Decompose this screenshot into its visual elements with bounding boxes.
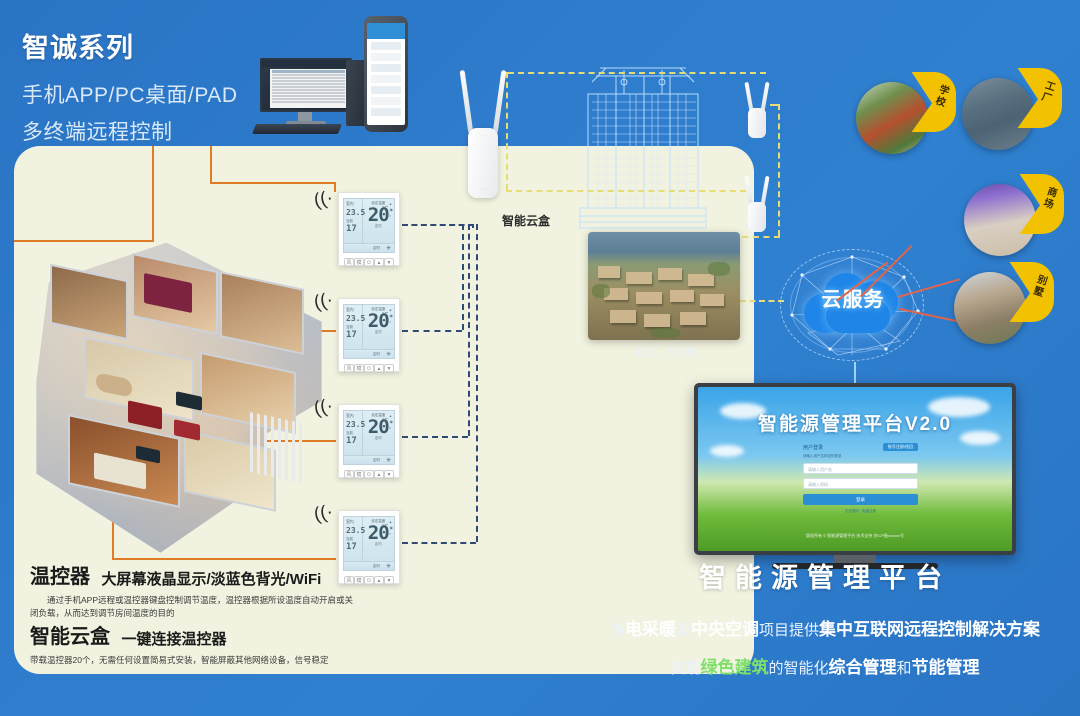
tagline-1-c: 及 [676,622,691,639]
fan-icon: ✳ [386,351,391,358]
tv-screen: 智能源管理平台V2.0 用户登录 账号注册/找回 请输入用户名和密码登录 请输入… [698,387,1012,551]
lcd-mode-text: 定时 [373,564,380,569]
router-body [748,108,766,138]
dash-link-t3 [402,436,468,438]
tagline-1-b: 电采暖 [625,620,676,639]
smartphone-icon [364,16,408,132]
key-up[interactable]: ▲ [374,364,384,373]
desktop-monitor-icon [260,58,352,112]
key-down[interactable]: ▼ [384,364,394,373]
orange-link-v2 [210,146,212,184]
building-wireframe [578,58,708,230]
thermostat-caption-body: 通过手机APP远程或温控器键盘控制调节温度，温控器根据所设温度自动开启或关闭负载… [30,594,360,620]
username-input[interactable]: 请输入用户名 [803,463,918,474]
thermostat-keypad[interactable]: 风 模 ⏻ ▲ ▼ [343,364,395,373]
key-up[interactable]: ▲ [374,470,384,479]
cloudbox-caption-title: 智能云盒 [30,620,110,649]
lcd-left-column: 室内 23.5 当前 17 [344,305,363,349]
key-up[interactable]: ▲ [374,258,384,267]
lcd-left-column: 室内 23.5 当前 17 [344,411,363,455]
thermostat-lcd: 室内 23.5 当前 17 设定温度 20 °C 定时 ▴◉▪ [343,410,395,456]
thermostat-caption-block: 温控器 大屏幕液晶显示/淡蓝色背光/WiFi 通过手机APP远程或温控器键盘控制… [30,560,360,620]
cloud-box-body: · · · ▫ ▫ ▫ [468,128,498,198]
thermostat-caption-sub: 大屏幕液晶显示/淡蓝色背光/WiFi [101,568,321,589]
key-down[interactable]: ▼ [384,470,394,479]
lcd-indoor-temp: 23.5 [346,314,360,323]
wifi-icon: ((· [312,188,335,211]
platform-footer: 版权所有 © 智能源管理平台 技术支持 京ICP备xxxxxx号 [698,533,1012,539]
monitor-data-table [270,69,347,108]
key-mode[interactable]: 模 [354,364,364,373]
cloud-service-node: 云服务 [768,245,936,365]
wifi-icon: ((· [312,502,335,525]
lcd-mode-text: 定时 [373,246,380,251]
thermostat-keypad[interactable]: 风 模 ⏻ ▲ ▼ [343,470,395,479]
thermostat-lcd: 室内 23.5 当前 17 设定温度 20 °C 定时 ▴◉▪ [343,304,395,350]
apartment-floorplan [24,236,334,566]
login-form[interactable]: 用户登录 账号注册/找回 请输入用户名和密码登录 请输入用户名 请输入密码 登录… [803,443,918,514]
yellow-link-1v [506,72,508,190]
lcd-mode-text: 定时 [373,458,380,463]
thermostat-keypad[interactable]: 风 模 ⏻ ▲ ▼ [343,258,395,267]
platform-tagline-block: 智能源管理平台 为电采暖及中央空调项目提供集中互联网远程控制解决方案 实现绿色建… [570,556,1080,678]
thermostat-device[interactable]: 室内 23.5 当前 17 设定温度 20 °C 定时 ▴◉▪ 定时 ✳ 风 [338,404,400,478]
platform-tagline-2: 实现绿色建筑的智能化综合管理和节能管理 [570,653,1080,678]
lcd-unit: °C [382,418,388,424]
key-down[interactable]: ▼ [384,576,394,585]
cloud-to-tv-connector [854,362,856,384]
cloud-box-leds: ▫ ▫ ▫ [468,186,498,191]
lcd-current-value: 17 [346,224,360,234]
cloud-box-label: 智能云盒 [502,212,550,229]
tagline-1-a: 为 [610,622,625,639]
login-title: 用户登录 [803,444,823,451]
wifi-icon: ((· [312,396,335,419]
wifi-icon: ((· [312,290,335,313]
router-body [748,202,766,232]
thermostat-lcd-footer: 定时 ✳ [343,244,395,253]
lcd-indoor-label: 室内 [346,413,360,419]
lcd-indoor-label: 室内 [346,201,360,207]
fan-icon: ✳ [386,563,391,570]
wifi-router-bottom[interactable] [744,176,770,232]
key-power[interactable]: ⏻ [364,576,374,585]
key-mode[interactable]: 模 [354,470,364,479]
dash-link-t3v [468,224,470,436]
scene-mall: 商场 [964,184,1042,262]
dash-link-t2 [402,330,462,332]
lcd-status-icons: ▴◉▪ [390,201,394,219]
community-aerial-photo [588,232,740,340]
key-up[interactable]: ▲ [374,576,384,585]
dash-link-t4 [402,542,476,544]
terminal-devices-group [246,4,432,144]
thermostat-lcd-footer: 定时 ✳ [343,456,395,465]
lcd-indoor-label: 室内 [346,519,360,525]
lcd-current-value: 17 [346,542,360,552]
login-button[interactable]: 登录 [803,494,918,505]
password-input[interactable]: 请输入密码 [803,478,918,489]
orange-link-v2b [334,182,336,192]
platform-title: 智能源管理平台V2.0 [698,409,1012,436]
key-fan[interactable]: 风 [344,364,354,373]
cloudbox-caption-block: 智能云盒 一键连接温控器 带载温控器20个，无需任何设置简易式安装，智能屏蔽其他… [30,620,430,667]
orange-link-h2 [210,182,336,184]
phone-app-screen [367,23,405,125]
login-hint: 请输入用户名和密码登录 [803,454,918,459]
monitor-titlebar [262,60,350,67]
lcd-status-icons: ▴◉▪ [390,519,394,537]
key-power[interactable]: ⏻ [364,364,374,373]
poster-stage: 智诚系列 手机APP/PC桌面/PAD 多终端远程控制 [0,0,1080,716]
thermostat-caption-title: 温控器 [30,560,90,589]
tagline-2-d: 综合管理 [829,658,897,677]
lcd-status-icons: ▴◉▪ [390,413,394,431]
lcd-status-icons: ▴◉▪ [390,307,394,325]
cloudbox-caption-body: 带载温控器20个，无需任何设置简易式安装，智能屏蔽其他网络设备，信号稳定 [30,654,430,667]
scene-villa: 别墅 [954,272,1032,350]
community-photo-label: 社区、办公楼 [616,344,716,359]
antenna-left [460,70,474,134]
tagline-2-a: 实现 [670,660,700,677]
lcd-unit: °C [382,312,388,318]
antenna-right [493,70,507,134]
key-power[interactable]: ⏻ [364,258,374,267]
smart-cloud-box-device[interactable]: · · · ▫ ▫ ▫ [463,70,503,210]
thermostat-device[interactable]: 室内 23.5 当前 17 设定温度 20 °C 定时 ▴◉▪ 定时 ✳ 风 [338,192,400,266]
platform-tagline-1: 为电采暖及中央空调项目提供集中互联网远程控制解决方案 [570,615,1080,640]
thermostat-device[interactable]: 室内 23.5 当前 17 设定温度 20 °C 定时 ▴◉▪ 定时 ✳ 风 [338,298,400,372]
wifi-router-top[interactable] [744,82,770,138]
yellow-link-3h [770,104,780,106]
key-fan[interactable]: 风 [344,470,354,479]
lcd-mode-text: 定时 [373,352,380,357]
cloudbox-caption-sub: 一键连接温控器 [121,628,226,649]
scene-photo [856,82,928,154]
login-links[interactable]: 忘记密码 · 免费注册 [803,509,918,514]
lcd-left-column: 室内 23.5 当前 17 [344,199,363,243]
keyboard-icon [252,124,342,134]
scene-photo [964,184,1036,256]
thermostat-lcd: 室内 23.5 当前 17 设定温度 20 °C 定时 ▴◉▪ [343,198,395,244]
tagline-2-f: 节能管理 [912,658,980,677]
lcd-current-value: 17 [346,436,360,446]
lcd-indoor-temp: 23.5 [346,420,360,429]
tv-bezel: 智能源管理平台V2.0 用户登录 账号注册/找回 请输入用户名和密码登录 请输入… [694,383,1016,555]
platform-heading: 智能源管理平台 [570,556,1080,595]
balcony-railing [250,412,306,484]
dash-link-t1v [472,224,474,228]
register-button[interactable]: 账号注册/找回 [883,443,918,451]
tagline-2-c: 的智能化 [768,660,828,677]
orange-link-v1 [152,146,154,242]
lcd-left-column: 室内 23.5 当前 17 [344,517,363,561]
key-down[interactable]: ▼ [384,258,394,267]
tagline-1-e: 项目提供 [759,622,819,639]
tagline-1-d: 中央空调 [691,620,759,639]
key-mode[interactable]: 模 [354,258,364,267]
tagline-2-e: 和 [897,660,912,677]
thermostat-lcd: 室内 23.5 当前 17 设定温度 20 °C 定时 ▴◉▪ [343,516,395,562]
lcd-current-value: 17 [346,330,360,340]
cloud-box-brand: · · · [468,133,498,138]
lcd-unit: °C [382,524,388,530]
fan-icon: ✳ [386,245,391,252]
thermostat-lcd-footer: 定时 ✳ [343,350,395,359]
tagline-1-f: 集中互联网远程控制解决方案 [819,620,1040,639]
scene-factory: 工厂 [962,78,1040,156]
lcd-indoor-temp: 23.5 [346,526,360,535]
key-power[interactable]: ⏻ [364,470,374,479]
yellow-link-1 [508,72,766,74]
fan-icon: ✳ [386,457,391,464]
dash-link-t4v [476,224,478,542]
lcd-indoor-temp: 23.5 [346,208,360,217]
lcd-indoor-label: 室内 [346,307,360,313]
platform-tv-display: 智能源管理平台V2.0 用户登录 账号注册/找回 请输入用户名和密码登录 请输入… [694,383,1016,555]
tagline-2-b: 绿色建筑 [700,658,768,677]
key-fan[interactable]: 风 [344,258,354,267]
yellow-link-2 [506,190,746,192]
scene-school: 学校 [856,82,934,160]
dash-link-t2v [462,224,464,330]
scene-photo [954,272,1026,344]
yellow-link-3v [778,104,780,236]
scene-photo [962,78,1034,150]
lcd-unit: °C [382,206,388,212]
